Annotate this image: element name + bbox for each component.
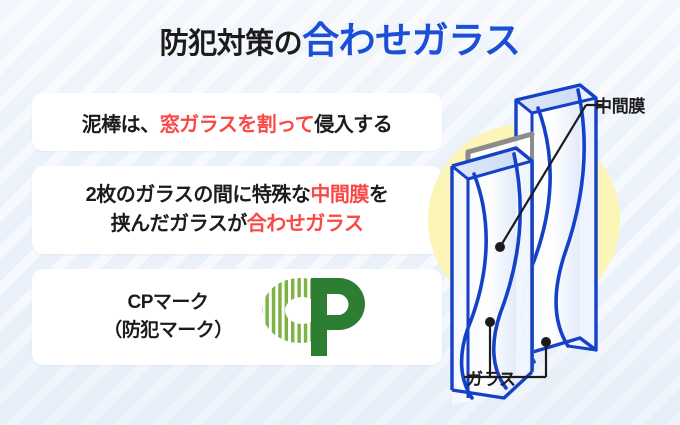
cp-mark-caption-line-1: CPマーク	[103, 289, 233, 317]
card-definition-text: 2枚のガラスの間に特殊な中間膜を 挟んだガラスが合わせガラス	[86, 181, 389, 239]
text-segment-dark-2: を	[369, 184, 389, 206]
cp-mark-caption-line-2: （防犯マーク）	[103, 317, 233, 345]
text-segment-highlight: 窓ガラスを割って	[160, 114, 315, 136]
definition-line-2: 挟んだガラスが合わせガラス	[86, 210, 389, 239]
page-title-highlight: 合わせガラス	[302, 20, 520, 61]
text-segment-dark-2: 侵入する	[314, 114, 392, 136]
page-title-prefix: 防犯対策の	[160, 28, 303, 60]
text-segment-dark: 泥棒は、	[82, 114, 160, 136]
card-laminated-glass-definition: 2枚のガラスの間に特殊な中間膜を 挟んだガラスが合わせガラス	[32, 166, 442, 254]
text-segment-highlight-laminated: 合わせガラス	[247, 213, 364, 235]
label-glass: ガラス	[466, 365, 516, 390]
text-segment-dark-3: 挟んだガラスが	[111, 213, 247, 235]
text-segment-dark: 2枚のガラスの間に特殊な	[86, 184, 311, 206]
infographic-canvas: 防犯対策の合わせガラス 泥棒は、窓ガラスを割って侵入する 2枚のガラスの間に特殊…	[0, 0, 680, 425]
cp-mark-row: CPマーク （防犯マーク）	[32, 276, 442, 358]
label-interlayer: 中間膜	[595, 92, 645, 117]
card-burglary-fact-text: 泥棒は、窓ガラスを割って侵入する	[82, 108, 393, 137]
cp-mark-caption: CPマーク （防犯マーク）	[103, 289, 233, 344]
card-cp-mark: CPマーク （防犯マーク）	[32, 269, 442, 365]
text-segment-highlight-interlayer: 中間膜	[310, 184, 369, 206]
definition-line-1: 2枚のガラスの間に特殊な中間膜を	[86, 181, 389, 210]
page-title: 防犯対策の合わせガラス	[0, 22, 680, 59]
cp-logo-icon	[259, 276, 371, 358]
card-burglary-fact: 泥棒は、窓ガラスを割って侵入する	[32, 93, 442, 151]
